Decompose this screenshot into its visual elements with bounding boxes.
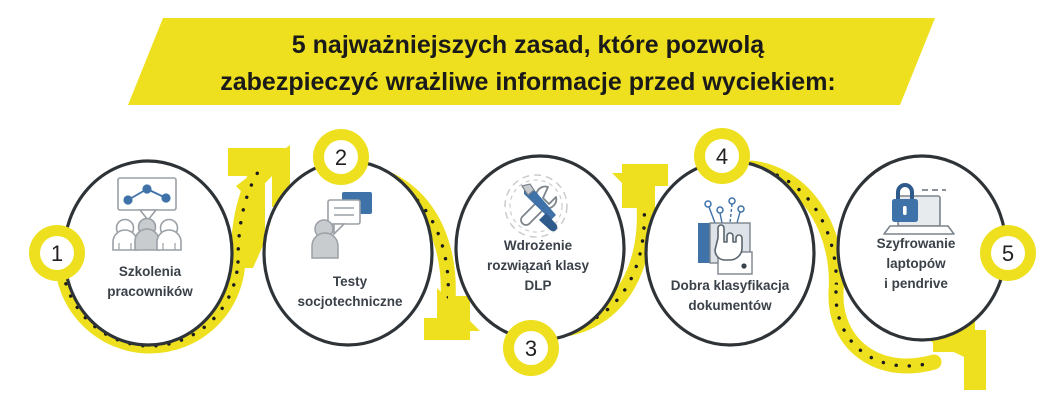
step-badge-4[interactable]: 4	[694, 128, 750, 184]
title-banner: 5 najważniejszych zasad, które pozwolą z…	[128, 18, 935, 105]
step-1-label-line-2: pracowników	[107, 284, 193, 299]
step-badge-1[interactable]: 1	[29, 225, 85, 281]
step-badge-3[interactable]: 3	[503, 320, 559, 376]
step-3-badge-number: 3	[525, 336, 537, 361]
step-4-label-line-1: Dobra klasyfikacja	[671, 278, 790, 293]
step-3-label-line-1: Wdrożenie	[504, 238, 573, 253]
step-5-label-line-3: i pendrive	[884, 276, 948, 291]
step-badge-5[interactable]: 5	[980, 225, 1036, 281]
step-3-label-line-2: rozwiązań klasy	[487, 258, 590, 273]
infographic-canvas: 5 najważniejszych zasad, które pozwolą z…	[0, 0, 1057, 412]
step-1-badge-number: 1	[51, 241, 63, 266]
banner-line-1: 5 najważniejszych zasad, które pozwolą	[292, 31, 765, 59]
step-2-label-line-2: socjotechniczne	[297, 294, 403, 309]
step-5-label-line-2: laptopów	[886, 256, 946, 271]
step-4-label-line-2: dokumentów	[688, 298, 772, 313]
banner-line-2: zabezpieczyć wrażliwe informacje przed w…	[220, 68, 836, 96]
step-1-label-line-1: Szkolenia	[119, 264, 182, 279]
step-5-badge-number: 5	[1002, 241, 1014, 266]
step-5-label-line-1: Szyfrowanie	[877, 236, 956, 251]
step-circle-2[interactable]	[264, 161, 432, 345]
step-badge-2[interactable]: 2	[313, 129, 369, 185]
step-3-label-line-3: DLP	[525, 278, 552, 293]
step-label-5: Szyfrowanie laptopów i pendrive	[877, 236, 956, 291]
step-4-badge-number: 4	[716, 144, 728, 169]
step-2-badge-number: 2	[335, 145, 347, 170]
step-2-label-line-1: Testy	[333, 274, 368, 289]
